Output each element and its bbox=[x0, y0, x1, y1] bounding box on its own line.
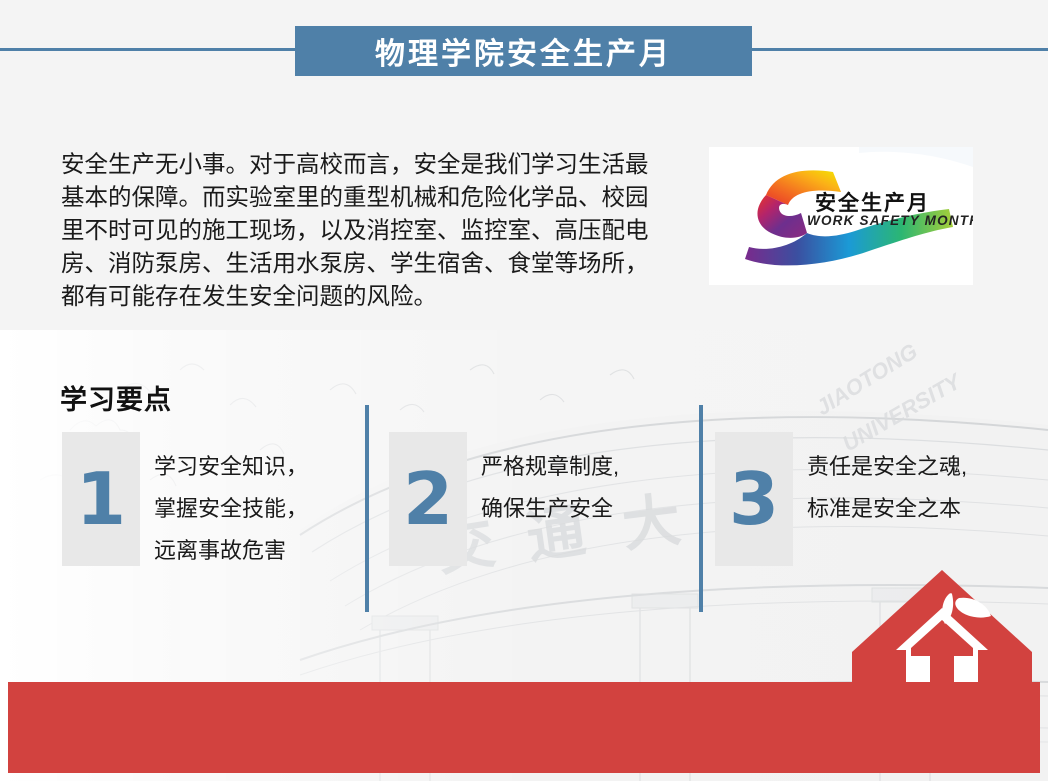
point-text-line: 责任是安全之魂, bbox=[807, 446, 967, 488]
title-banner: 物理学院安全生产月 bbox=[295, 26, 752, 76]
list-item: 2 严格规章制度, 确保生产安全 bbox=[389, 432, 619, 566]
intro-paragraph: 安全生产无小事。对于高校而言，安全是我们学习生活最基本的保障。而实验室里的重型机… bbox=[61, 148, 661, 313]
page-header: 物理学院安全生产月 bbox=[0, 0, 1048, 100]
point-number-box: 1 bbox=[62, 432, 140, 566]
point-text-line: 标准是安全之本 bbox=[807, 488, 967, 530]
point-number-box: 3 bbox=[715, 432, 793, 566]
point-number: 1 bbox=[76, 463, 126, 535]
point-text-line: 严格规章制度, bbox=[481, 446, 619, 488]
list-item: 3 责任是安全之魂, 标准是安全之本 bbox=[715, 432, 967, 566]
point-text: 严格规章制度, 确保生产安全 bbox=[481, 432, 619, 530]
logo-title-en: WORK SAFETY MONTH bbox=[807, 213, 973, 228]
house-decoration bbox=[851, 568, 1033, 688]
footer-bar bbox=[8, 682, 1040, 773]
point-text-line: 学习安全知识， bbox=[154, 446, 308, 488]
point-divider-2 bbox=[699, 405, 703, 612]
work-safety-month-logo: 安全生产月 WORK SAFETY MONTH bbox=[709, 147, 973, 285]
point-number-box: 2 bbox=[389, 432, 467, 566]
point-text: 学习安全知识， 掌握安全技能， 远离事故危害 bbox=[154, 432, 308, 572]
point-number: 3 bbox=[729, 463, 779, 535]
point-text-line: 确保生产安全 bbox=[481, 488, 619, 530]
point-number: 2 bbox=[403, 463, 453, 535]
point-text: 责任是安全之魂, 标准是安全之本 bbox=[807, 432, 967, 530]
house-leaf-icon bbox=[851, 568, 1033, 688]
page-title: 物理学院安全生产月 bbox=[375, 29, 672, 73]
point-text-line: 远离事故危害 bbox=[154, 530, 308, 572]
point-text-line: 掌握安全技能， bbox=[154, 488, 308, 530]
point-divider-1 bbox=[365, 405, 369, 612]
list-item: 1 学习安全知识， 掌握安全技能， 远离事故危害 bbox=[62, 432, 308, 572]
